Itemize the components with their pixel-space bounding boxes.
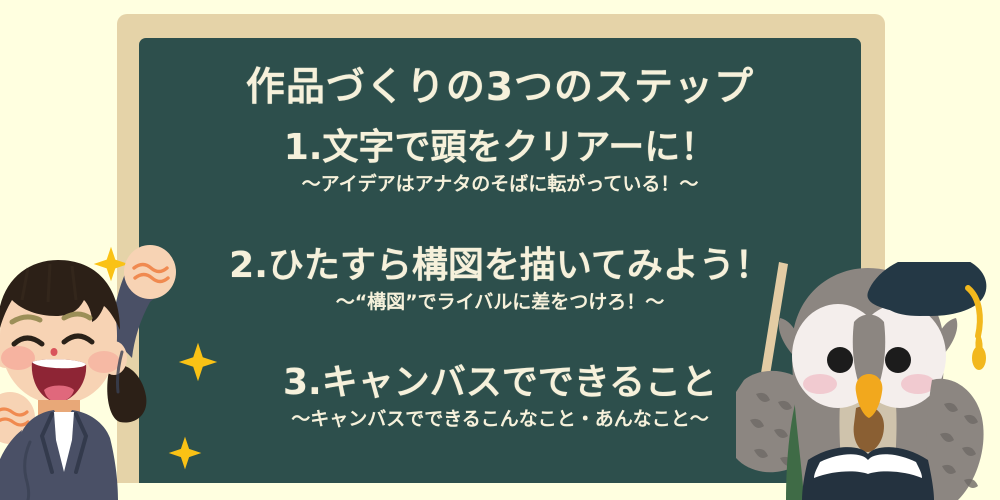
step-1-heading: 1.文字で頭をクリアーに！ [139,128,861,168]
professor-owl-illustration [736,262,1000,500]
step-1: 1.文字で頭をクリアーに！ 〜アイデアはアナタのそばに転がっている！〜 [139,128,861,195]
open-book [802,447,934,500]
slide-canvas: 作品づくりの3つのステップ 1.文字で頭をクリアーに！ 〜アイデアはアナタのそば… [0,0,1000,500]
cheering-person-illustration [0,240,197,500]
step-1-subtitle: 〜アイデアはアナタのそばに転がっている！〜 [139,173,861,196]
page-title: 作品づくりの3つのステップ [139,56,861,112]
